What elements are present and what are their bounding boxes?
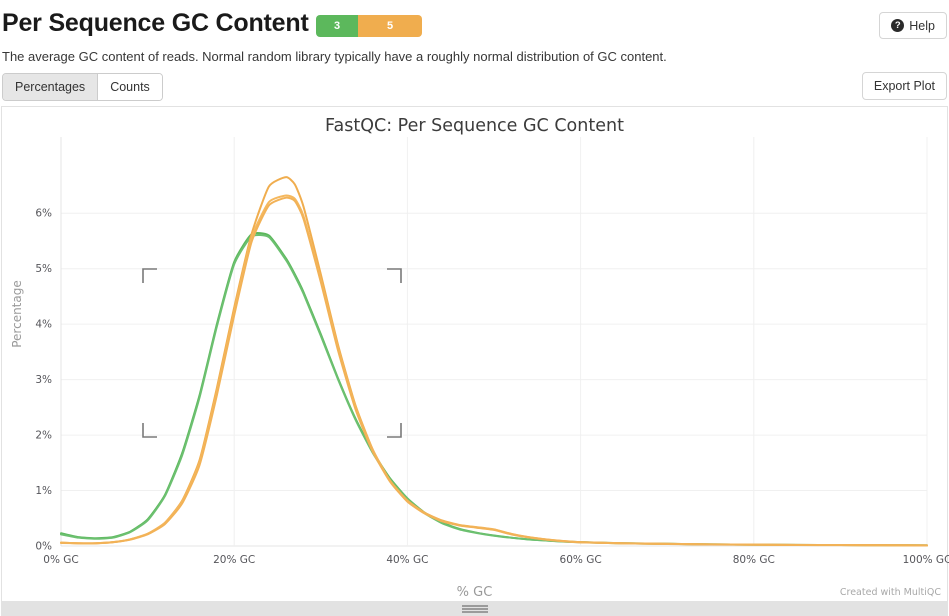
selection-bracket-top-left-shadow — [145, 271, 159, 285]
x-axis-tick-label: 20% GC — [213, 554, 255, 566]
y-axis-tick-label: 2% — [35, 430, 52, 442]
multiqc-plot-panel: Per Sequence GC Content 3 5 ? Help The a… — [0, 0, 949, 616]
series-line-orange-sample-3[interactable] — [61, 198, 927, 546]
plot-svg[interactable]: 0%1%2%3%4%5%6%0% GC20% GC40% GC60% GC80%… — [2, 107, 949, 603]
x-axis-tick-label: 40% GC — [386, 554, 428, 566]
x-axis-tick-label: 0% GC — [43, 554, 78, 566]
page-title: Per Sequence GC Content — [2, 9, 309, 38]
status-badge-warn[interactable]: 5 — [358, 15, 422, 37]
x-axis-tick-label: 60% GC — [560, 554, 602, 566]
series-line-green-sample-1[interactable] — [61, 233, 927, 545]
tab-percentages[interactable]: Percentages — [3, 74, 98, 100]
y-axis-tick-label: 6% — [35, 208, 52, 220]
x-axis-tick-label: 80% GC — [733, 554, 775, 566]
x-axis-tick-label: 100% GC — [903, 554, 949, 566]
question-circle-icon: ? — [891, 19, 904, 32]
plot-resize-bar[interactable] — [1, 602, 948, 616]
resize-grip-icon[interactable] — [462, 605, 488, 613]
status-badge-group: 3 5 — [316, 15, 422, 37]
tab-counts[interactable]: Counts — [98, 74, 162, 100]
help-button-label: Help — [909, 19, 935, 33]
plot-container[interactable]: FastQC: Per Sequence GC Content Percenta… — [1, 106, 948, 602]
help-button[interactable]: ? Help — [879, 12, 947, 39]
module-description: The average GC content of reads. Normal … — [2, 49, 667, 64]
module-header: Per Sequence GC Content 3 5 ? Help — [0, 0, 949, 46]
status-badge-pass[interactable]: 3 — [316, 15, 358, 37]
y-axis-tick-label: 4% — [35, 319, 52, 331]
y-axis-tick-label: 5% — [35, 263, 52, 275]
series-line-orange-sample-2[interactable] — [61, 195, 927, 545]
y-axis-tick-label: 0% — [35, 541, 52, 553]
dataset-toggle-group: Percentages Counts — [2, 73, 163, 101]
y-axis-tick-label: 3% — [35, 374, 52, 386]
export-plot-button[interactable]: Export Plot — [862, 72, 947, 100]
series-line-green-sample-2[interactable] — [61, 235, 927, 545]
y-axis-tick-label: 1% — [35, 485, 52, 497]
